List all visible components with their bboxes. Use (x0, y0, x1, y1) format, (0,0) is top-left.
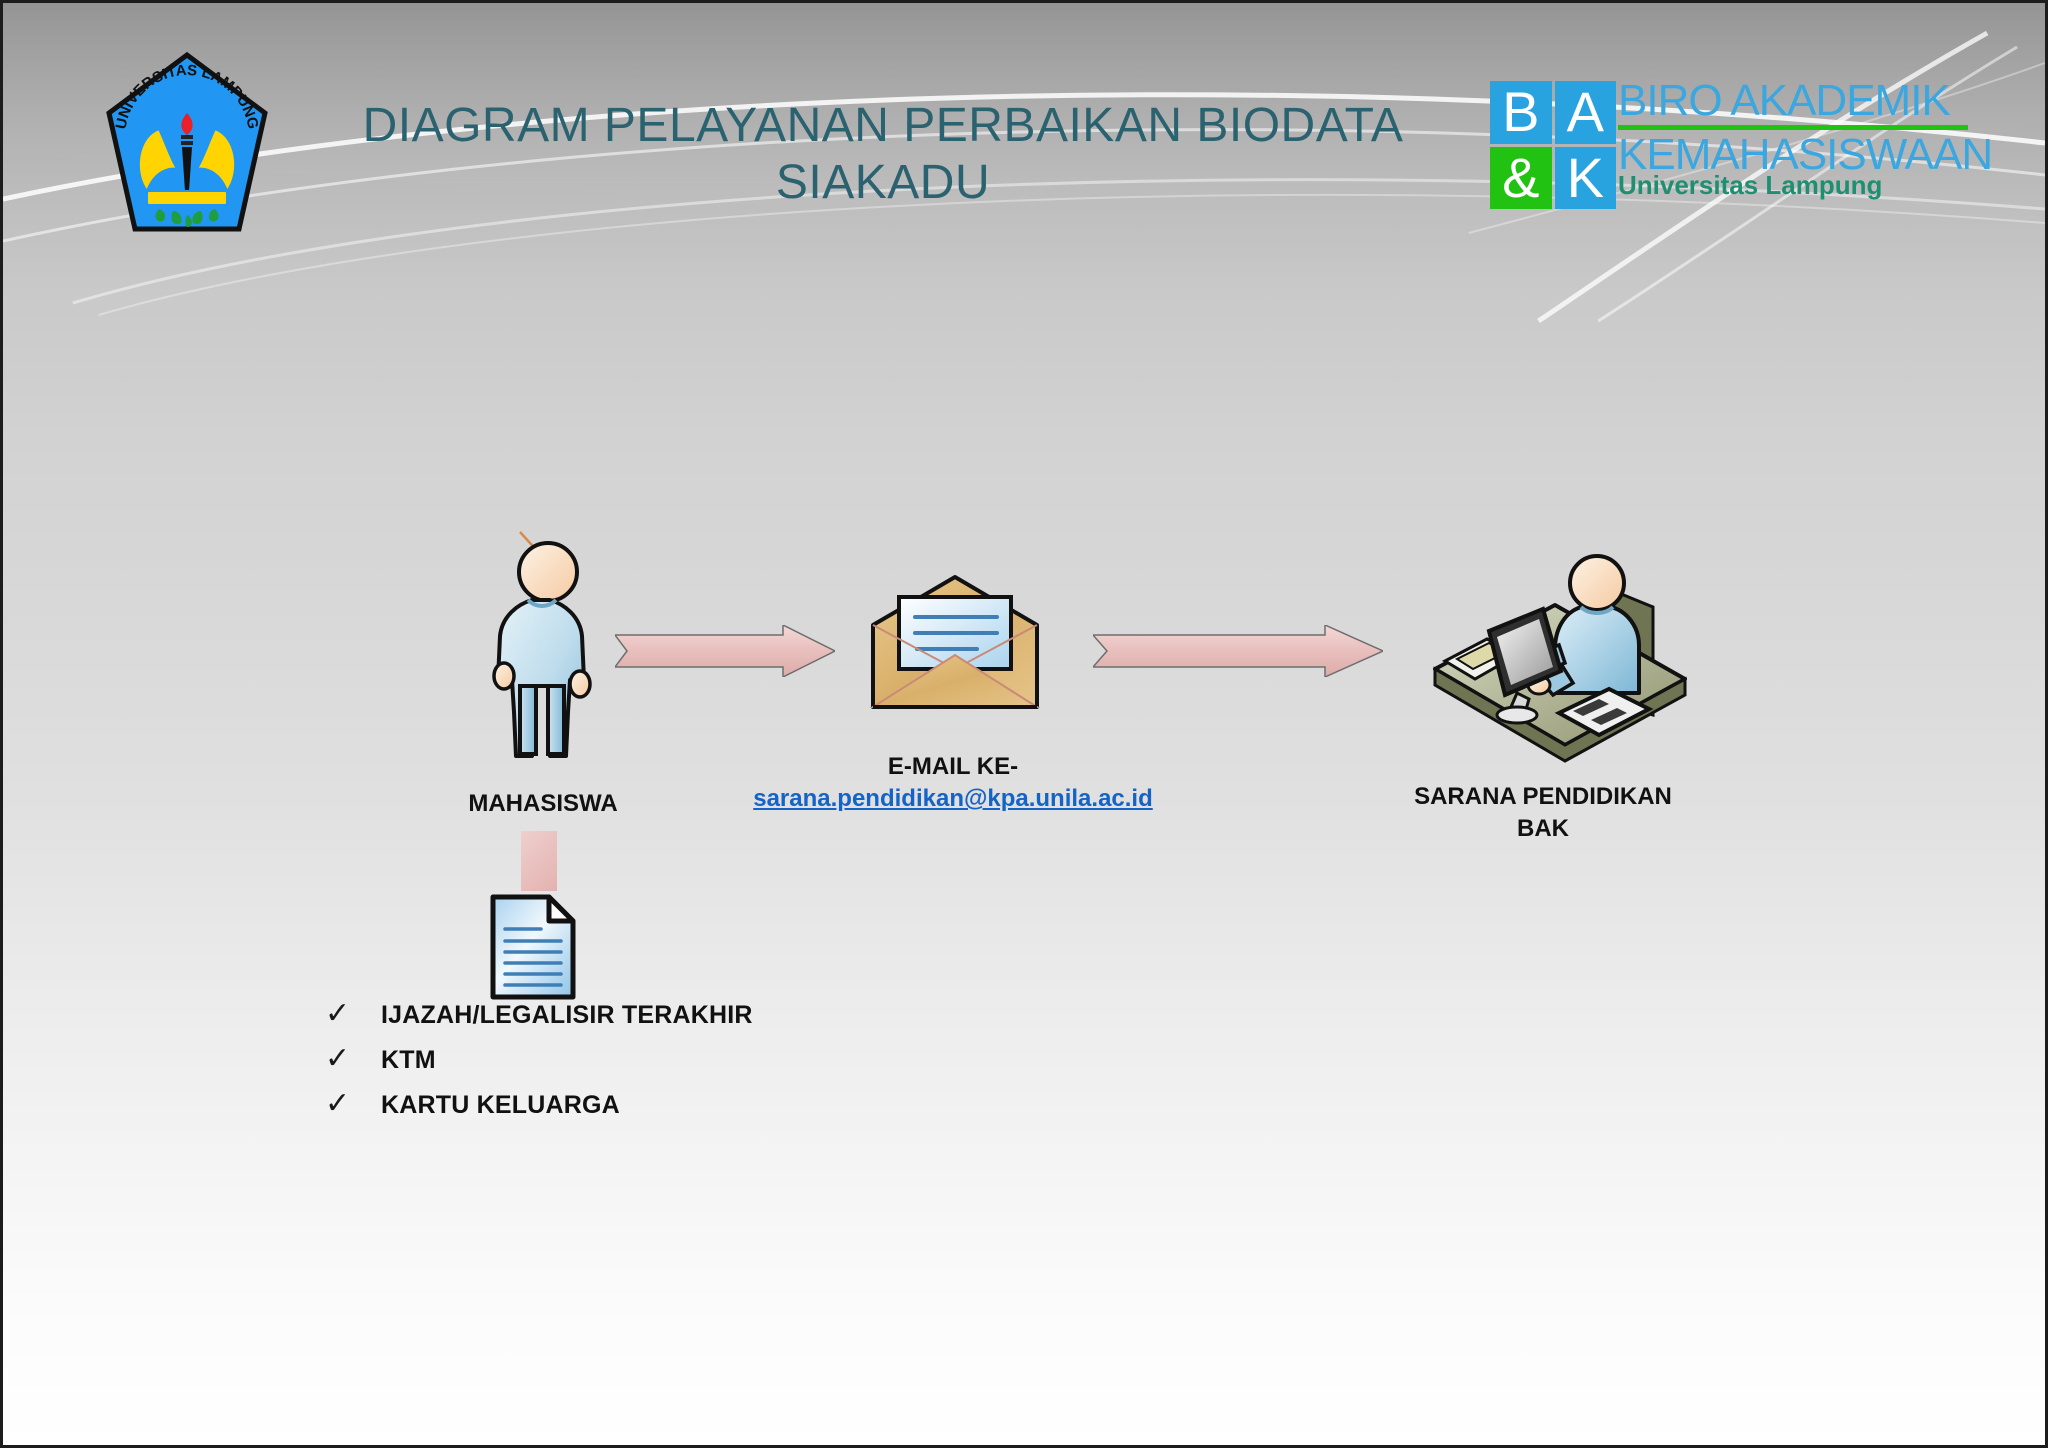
office-node-label-line2: BAK (1383, 813, 1703, 845)
check-icon: ✓ (325, 1089, 381, 1119)
open-envelope-icon (865, 573, 1045, 713)
bak-wordmark-line1: BIRO AKADEMIK (1618, 79, 1992, 123)
office-node-label-line1: SARANA PENDIDIKAN (1383, 781, 1703, 813)
bak-letter-ampersand: & (1490, 147, 1552, 210)
bak-letter-b: B (1490, 81, 1552, 144)
bak-wordmark: BIRO AKADEMIK KEMAHASISWAAN Universitas … (1618, 79, 1992, 200)
requirement-label: KARTU KELUARGA (381, 1091, 620, 1120)
page-title-line2: SIAKADU (333, 155, 1433, 212)
person-at-computer-desk-icon (1413, 543, 1693, 773)
student-node-label: MAHASISWA (403, 788, 683, 820)
page-title: DIAGRAM PELAYANAN PERBAIKAN BIODATA SIAK… (333, 98, 1433, 211)
student-person-icon (458, 508, 638, 788)
arrow-email-to-office-icon (1093, 625, 1383, 677)
arrow-student-to-documents-icon (521, 831, 557, 891)
office-node-label: SARANA PENDIDIKAN BAK (1383, 781, 1703, 846)
email-node-caption: E-MAIL KE- (643, 751, 1263, 783)
list-item: ✓ IJAZAH/LEGALISIR TERAKHIR (325, 999, 1025, 1030)
bak-logo: B A & K BIRO AKADEMIK KEMAHASISWAAN Univ… (1490, 81, 1970, 211)
email-address-link[interactable]: sarana.pendidikan@kpa.unila.ac.id (753, 783, 1153, 815)
requirements-checklist: ✓ IJAZAH/LEGALISIR TERAKHIR ✓ KTM ✓ KART… (325, 999, 1025, 1134)
bak-letter-k: K (1555, 147, 1617, 210)
requirement-label: KTM (381, 1046, 436, 1075)
arrow-student-to-email-icon (615, 625, 835, 677)
universitas-lampung-logo: UNIVERSITAS LAMPUNG (103, 51, 271, 241)
bak-letter-grid: B A & K (1490, 81, 1616, 209)
list-item: ✓ KARTU KELUARGA (325, 1089, 1025, 1120)
check-icon: ✓ (325, 999, 381, 1029)
requirement-label: IJAZAH/LEGALISIR TERAKHIR (381, 1001, 753, 1030)
list-item: ✓ KTM (325, 1044, 1025, 1075)
bak-letter-a: A (1555, 81, 1617, 144)
check-icon: ✓ (325, 1044, 381, 1074)
document-page-icon (487, 893, 579, 1001)
email-node-label: E-MAIL KE- sarana.pendidikan@kpa.unila.a… (643, 751, 1263, 816)
page-title-line1: DIAGRAM PELAYANAN PERBAIKAN BIODATA (333, 98, 1433, 155)
slide-canvas: UNIVERSITAS LAMPUNG DIAGRAM PELAYANAN PE… (0, 0, 2048, 1448)
